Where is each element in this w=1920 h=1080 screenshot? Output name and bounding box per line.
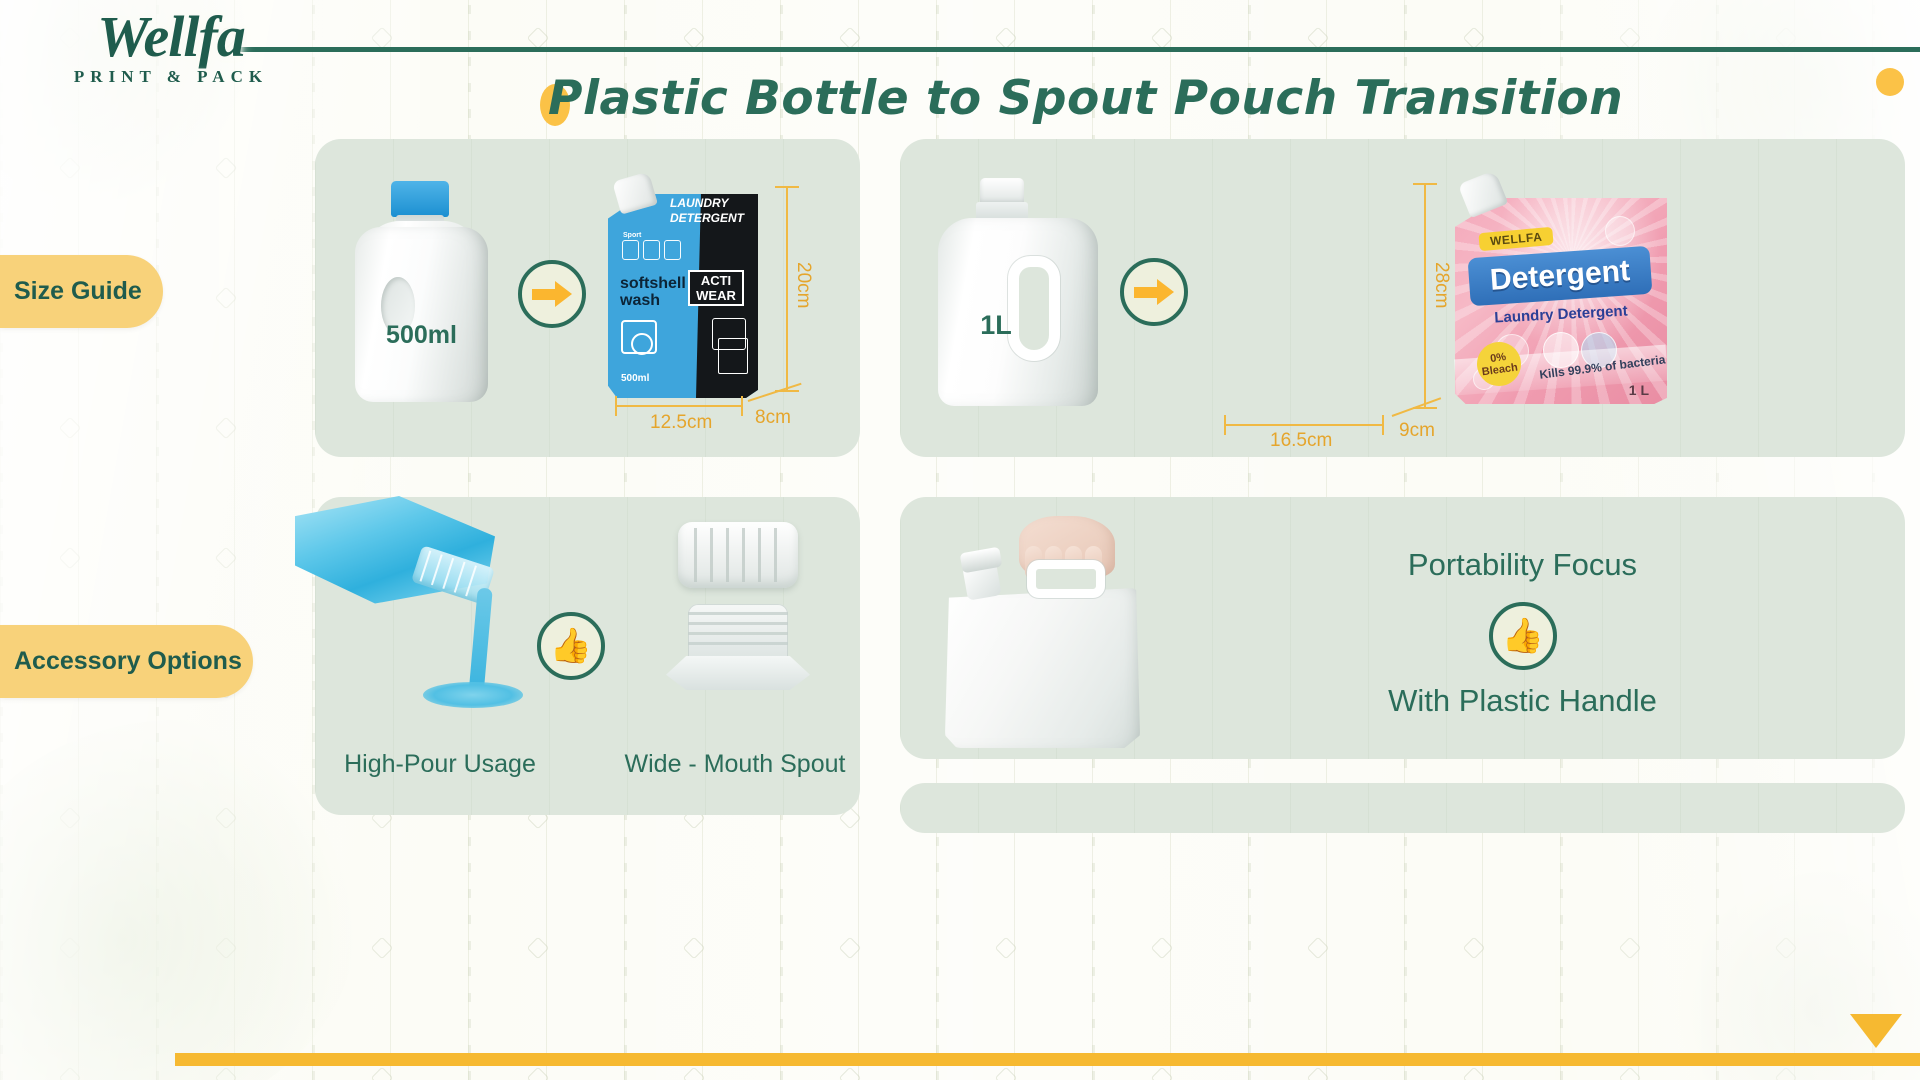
plastic-handle [1027,560,1105,598]
caption-wide-mouth-spout: Wide - Mouth Spout [590,750,880,779]
athlete-icon [622,240,639,260]
plastic-bottle-1l: 1L [938,178,1098,406]
dim-width-label-tl: 12.5cm [650,412,712,434]
dim-height-label-tr: 28cm [1430,262,1452,308]
plastic-handle-subheading: With Plastic Handle [1140,683,1905,719]
handle-pouch-illustration [935,520,1140,750]
bubble-decor [1605,216,1635,246]
sidebar-tab-size-guide[interactable]: Size Guide [0,255,163,328]
pouch-bag-body [945,588,1140,748]
pouch-line2: DETERGENT [670,211,744,225]
pouch-title: Detergent [1489,254,1631,298]
pants-icon [718,338,748,374]
transition-arrow-badge-500ml [518,260,586,328]
dim-height-label-tl: 20cm [792,262,814,308]
sidebar-tab-accessory-options-label: Accessory Options [0,647,242,676]
arrow-right-icon [1134,279,1174,305]
dim-depth-label-tr: 9cm [1399,420,1435,442]
spout-pouch-detergent-pink: WELLFA Detergent Laundry Detergent 0% Bl… [1455,182,1667,404]
card-pattern [900,783,1905,833]
pouch-acti-line2: WEAR [696,288,736,303]
bottle-body [355,227,488,402]
runner-icon [643,240,660,260]
transition-arrow-badge-1l [1120,258,1188,326]
plastic-bottle-500ml: 500ml [355,181,488,402]
dim-width-line-tl [615,405,743,407]
pouch-softshell-line1: softshell [620,275,686,292]
page-title-bar: Plastic Bottle to Spout Pouch Transition [520,62,1920,136]
pouch-actiwear-box: ACTI WEAR [688,270,744,306]
dim-width-tick-left-tr [1224,415,1226,435]
brand-logo: Wellfa PRINT & PACK [26,8,316,94]
footer-accent-bar [175,1053,1920,1066]
dim-width-line-tr [1224,424,1384,426]
card-footer-strip [900,783,1905,833]
spout-cap-top [678,522,798,588]
sidebar-tab-size-guide-label: Size Guide [0,277,142,306]
wide-mouth-spout-illustration [650,522,825,722]
arrow-right-icon [532,281,572,307]
dim-height-tick-top-tr [1413,183,1437,185]
dim-depth-label-tl: 8cm [755,407,791,429]
logo-tagline: PRINT & PACK [26,67,316,87]
bleach-word: Bleach [1481,361,1518,378]
washing-machine-icon [621,320,657,354]
dim-width-tick-right-tr [1382,415,1384,435]
bottle-handle [1008,256,1060,361]
logo-wordmark: Wellfa [26,8,316,66]
pouch-sport-icons [622,240,681,260]
thumbs-up-down-icon: 👍 [1502,616,1544,656]
spout-fitment [666,604,810,696]
high-pour-feature-badge: 👍 [537,612,605,680]
dim-width-tick-right-tl [741,396,743,416]
pouch-softshell-text: softshell wash [620,275,686,309]
liquid-pool [423,682,523,708]
header-divider-rule [235,47,1920,52]
bottle-volume-label: 500ml [355,321,488,350]
title-accent-dot-right [1876,68,1904,96]
pouch-acti-line1: ACTI [701,273,731,288]
footer-chevron-icon [1850,1014,1902,1048]
spout-pouch-laundry-blue: LAUNDRY DETERGENT Sport softshell wash A… [608,180,758,398]
skier-icon [664,240,681,260]
pouch-sport-label: Sport [623,232,641,239]
dim-height-tick-top-tl [775,186,799,188]
spout-flange [666,656,810,690]
high-pour-illustration [295,496,535,726]
thumbs-up-star-icon: 👍 [550,626,592,666]
caption-high-pour-usage: High-Pour Usage [315,750,565,779]
pouch-volume-label: 1 L [1629,382,1649,398]
pouch-volume-label: 500ml [621,373,649,384]
pouch-softshell-line2: wash [620,292,660,309]
dim-height-line-tr [1424,183,1426,407]
dim-width-label-tr: 16.5cm [1270,430,1332,452]
bottle-cap [391,181,449,217]
bottle-cap [980,178,1024,204]
spout-threads [688,604,788,660]
portability-feature-badge: 👍 [1489,602,1557,670]
page-title: Plastic Bottle to Spout Pouch Transition [548,62,1623,136]
portability-focus-heading: Portability Focus [1140,547,1905,583]
dim-width-tick-left-tl [615,396,617,416]
dim-height-line-tl [786,186,788,390]
bottle-volume-label: 1L [938,310,1054,341]
sidebar-tab-accessory-options[interactable]: Accessory Options [0,625,253,698]
pouch-line1: LAUNDRY [670,196,728,210]
